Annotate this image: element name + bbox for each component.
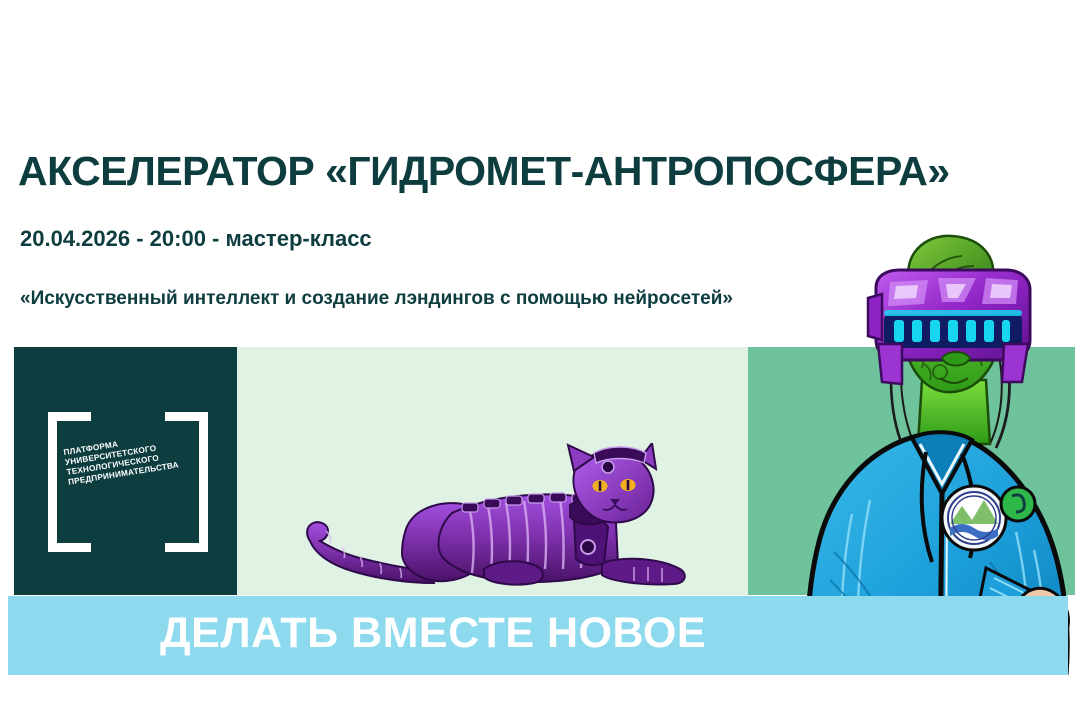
platform-logo: ПЛАТФОРМА УНИВЕРСИТЕТСКОГО ТЕХНОЛОГИЧЕСК…	[48, 412, 208, 534]
event-datetime: 20.04.2026 - 20:00 - мастер-класс	[20, 226, 372, 252]
banner-slogan: ДЕЛАТЬ ВМЕСТЕ НОВОЕ	[160, 609, 706, 658]
event-subtitle: «Искусственный интеллект и создание лэнд…	[20, 286, 750, 313]
green-pin-badge	[1001, 487, 1035, 521]
poster-root: АКСЕЛЕРАТОР «ГИДРОМЕТ-АНТРОПОСФЕРА» 20.0…	[0, 0, 1075, 720]
university-emblem-badge	[942, 486, 1006, 550]
page-title: АКСЕЛЕРАТОР «ГИДРОМЕТ-АНТРОПОСФЕРА»	[18, 150, 1063, 193]
cyber-cat-illustration	[302, 443, 692, 598]
